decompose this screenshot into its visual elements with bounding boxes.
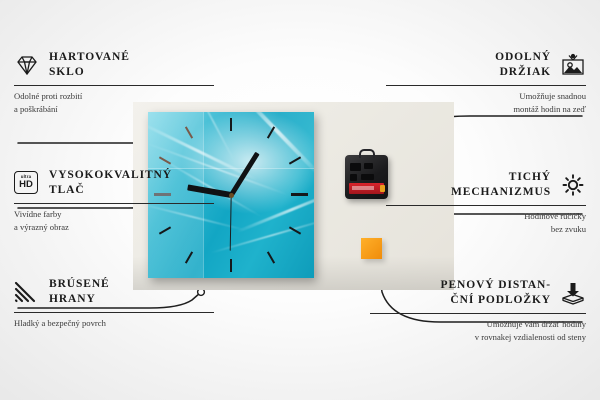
feature-rule xyxy=(386,85,586,86)
feature-desc-line1: Umožňuje vám držať hodiny xyxy=(370,318,586,330)
feature-rule xyxy=(14,85,214,86)
foam-spacer-icon xyxy=(560,281,586,305)
feature-title-line2: MECHANIZMUS xyxy=(451,185,551,200)
feature-desc-line2: a výrazný obraz xyxy=(14,221,214,233)
feature-desc-line1: Hladký a bezpečný povrch xyxy=(14,317,214,329)
feature-desc-line1: Hodinové ručičky xyxy=(386,210,586,222)
feature-high-quality-print: ultra HD VYSOKOKVALITNÝ TLAČ Vivídne far… xyxy=(14,168,214,233)
feature-rule xyxy=(370,313,586,314)
foam-spacer-pad xyxy=(361,238,382,259)
picture-hanger-icon xyxy=(560,53,586,77)
feature-title-line1: TICHÝ xyxy=(451,170,551,185)
feature-title-line1: BRÚSENÉ xyxy=(49,277,110,292)
feature-title-line2: TLAČ xyxy=(49,183,172,198)
gear-icon xyxy=(560,173,586,197)
feature-desc-line1: Odolné proti rozbití xyxy=(14,90,214,102)
mechanism-battery xyxy=(349,183,384,194)
ultra-hd-badge-icon: ultra HD xyxy=(14,171,40,195)
feature-rule xyxy=(14,203,214,204)
diamond-icon xyxy=(14,53,40,77)
feature-bevelled-edges: BRÚSENÉ HRANY Hladký a bezpečný povrch xyxy=(14,277,214,330)
feature-title-line1: PENOVÝ DISTAN- xyxy=(441,278,551,293)
feature-silent-mechanism: TICHÝ MECHANIZMUS Hodinové ručičky bez z… xyxy=(386,170,586,235)
feature-rule xyxy=(14,312,214,313)
feature-tempered-glass: HARTOVANÉ SKLO Odolné proti rozbití a po… xyxy=(14,50,214,115)
feature-desc-line1: Vivídne farby xyxy=(14,208,214,220)
feature-durable-hanger: ODOLNÝ DRŽIAK Umožňuje snadnou montáž ho… xyxy=(386,50,586,115)
feature-desc-line2: montáž hodin na zeď xyxy=(386,103,586,115)
feature-foam-spacers: PENOVÝ DISTAN- ČNÍ PODLOŽKY Umožňuje vám… xyxy=(370,278,586,343)
feature-title-line2: HRANY xyxy=(49,292,110,307)
feature-title-line1: VYSOKOKVALITNÝ xyxy=(49,168,172,183)
feature-desc-line1: Umožňuje snadnou xyxy=(386,90,586,102)
feature-title-line2: DRŽIAK xyxy=(495,65,551,80)
feature-rule xyxy=(386,205,586,206)
feature-desc-line2: bez zvuku xyxy=(386,223,586,235)
feature-title-line1: ODOLNÝ xyxy=(495,50,551,65)
feature-title-line2: SKLO xyxy=(49,65,130,80)
badge-hd-text: HD xyxy=(19,180,33,190)
clock-mechanism xyxy=(345,155,388,199)
feature-title-line1: HARTOVANÉ xyxy=(49,50,130,65)
feature-desc-line2: v rovnakej vzdialenosti od steny xyxy=(370,331,586,343)
clock-center-cap xyxy=(229,193,234,198)
feature-title-line2: ČNÍ PODLOŽKY xyxy=(441,293,551,308)
feature-desc-line2: a poškrábání xyxy=(14,103,214,115)
bevelled-edge-icon xyxy=(14,280,40,304)
mechanism-hook xyxy=(359,149,375,158)
